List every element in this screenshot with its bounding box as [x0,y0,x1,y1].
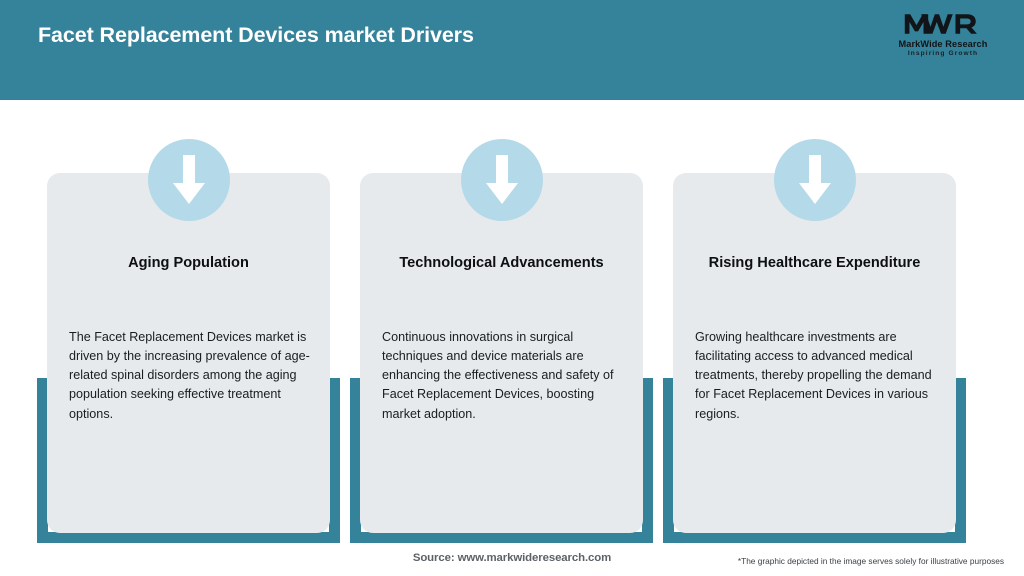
header-bar: Facet Replacement Devices market Drivers… [0,0,1024,100]
driver-card-3[interactable]: Rising Healthcare Expenditure Growing he… [663,100,966,540]
accent-bar-right [955,378,966,543]
arrow-down-icon [774,139,856,221]
accent-bar-right [642,378,653,543]
arrow-down-icon [461,139,543,221]
card-body-text: Continuous innovations in surgical techn… [382,328,625,424]
driver-card-1[interactable]: Aging Population The Facet Replacement D… [37,100,340,540]
card-panel: Aging Population The Facet Replacement D… [47,173,330,533]
disclaimer-note: *The graphic depicted in the image serve… [738,556,1004,566]
accent-bar-bottom [663,532,966,543]
drivers-card-group: Aging Population The Facet Replacement D… [0,100,1024,540]
mwr-logo-icon [904,10,982,38]
card-title: Aging Population [63,253,314,274]
card-body-text: The Facet Replacement Devices market is … [69,328,312,424]
driver-card-2[interactable]: Technological Advancements Continuous in… [350,100,653,540]
card-title: Technological Advancements [376,253,627,274]
logo-tagline: Inspiring Growth [884,50,1002,57]
accent-bar-right [329,378,340,543]
accent-bar-bottom [37,532,340,543]
logo-company-name: MarkWide Research [884,39,1002,49]
arrow-down-icon [148,139,230,221]
card-panel: Rising Healthcare Expenditure Growing he… [673,173,956,533]
accent-bar-bottom [350,532,653,543]
card-title: Rising Healthcare Expenditure [689,253,940,274]
card-panel: Technological Advancements Continuous in… [360,173,643,533]
page-title: Facet Replacement Devices market Drivers [38,23,474,48]
brand-logo: MarkWide Research Inspiring Growth [884,10,1002,66]
card-body-text: Growing healthcare investments are facil… [695,328,938,424]
